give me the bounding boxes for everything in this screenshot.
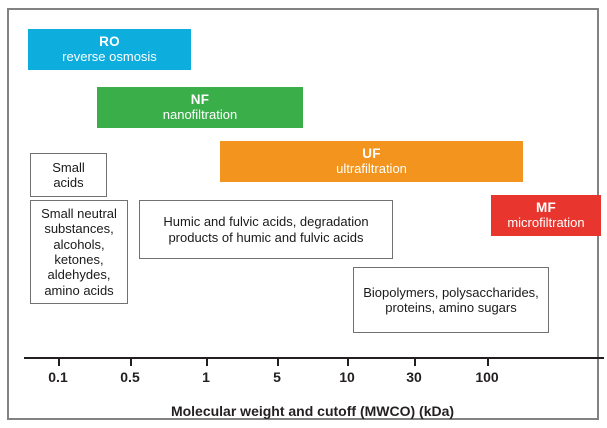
substance-box-humic: Humic and fulvic acids, degradation prod… (139, 200, 393, 259)
substance-label-small-neutral: Small neutral substances, alcohols, keto… (36, 206, 122, 298)
process-abbr-nf: NF (191, 93, 209, 108)
x-axis-tick-label: 1 (202, 369, 210, 385)
substance-label-small-acids: Small acids (36, 160, 101, 191)
process-abbr-mf: MF (536, 201, 556, 216)
process-name-uf: ultrafiltration (336, 162, 407, 176)
process-abbr-ro: RO (99, 35, 120, 50)
x-axis-tick (130, 357, 132, 366)
x-axis-line (24, 357, 604, 359)
x-axis-tick (206, 357, 208, 366)
x-axis-tick (414, 357, 416, 366)
x-axis-tick-label: 5 (273, 369, 281, 385)
x-axis-tick-label: 100 (475, 369, 498, 385)
x-axis-tick (277, 357, 279, 366)
x-axis-tick (347, 357, 349, 366)
process-bar-nf: NF nanofiltration (97, 87, 303, 128)
substance-box-biopolymers: Biopolymers, polysaccharides, proteins, … (353, 267, 549, 333)
x-axis-title: Molecular weight and cutoff (MWCO) (kDa) (9, 403, 607, 419)
process-name-ro: reverse osmosis (62, 50, 157, 64)
x-axis-tick-label: 30 (406, 369, 422, 385)
x-axis-tick-label: 10 (339, 369, 355, 385)
process-abbr-uf: UF (362, 147, 380, 162)
x-axis-tick (58, 357, 60, 366)
substance-label-biopolymers: Biopolymers, polysaccharides, proteins, … (359, 285, 543, 316)
process-bar-ro: RO reverse osmosis (28, 29, 191, 70)
x-axis-tick (487, 357, 489, 366)
process-bar-mf: MF microfiltration (491, 195, 601, 236)
substance-label-humic: Humic and fulvic acids, degradation prod… (145, 214, 387, 245)
membrane-filtration-diagram: RO reverse osmosis NF nanofiltration UF … (0, 0, 607, 428)
process-name-mf: microfiltration (507, 216, 584, 230)
process-bar-uf: UF ultrafiltration (220, 141, 523, 182)
substance-box-small-acids: Small acids (30, 153, 107, 197)
x-axis-tick-label: 0.1 (48, 369, 67, 385)
diagram-frame: RO reverse osmosis NF nanofiltration UF … (7, 8, 599, 420)
substance-box-small-neutral: Small neutral substances, alcohols, keto… (30, 200, 128, 304)
process-name-nf: nanofiltration (163, 108, 237, 122)
x-axis-tick-label: 0.5 (120, 369, 139, 385)
